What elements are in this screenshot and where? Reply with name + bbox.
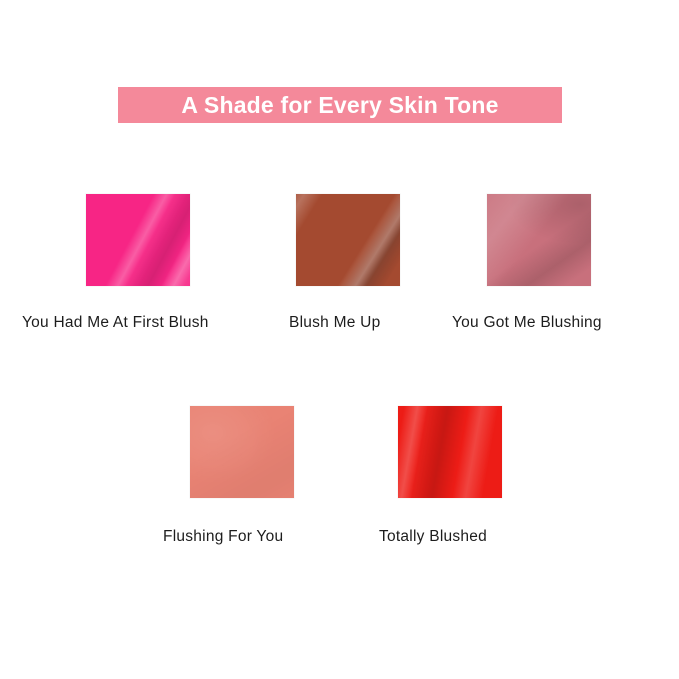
shade-label-1: You Had Me At First Blush bbox=[22, 315, 209, 331]
page-title: A Shade for Every Skin Tone bbox=[181, 94, 498, 117]
title-banner: A Shade for Every Skin Tone bbox=[118, 87, 562, 123]
shade-swatch-2[interactable] bbox=[296, 194, 400, 286]
swatch-color-block-3[interactable] bbox=[487, 194, 591, 286]
swatch-base-fill-3 bbox=[487, 194, 591, 286]
shade-label-5: Totally Blushed bbox=[379, 529, 487, 545]
shade-swatch-1[interactable] bbox=[86, 194, 190, 286]
shade-swatch-3[interactable] bbox=[487, 194, 591, 286]
shade-label-2: Blush Me Up bbox=[289, 315, 380, 331]
swatch-base-fill-5 bbox=[398, 406, 502, 498]
shade-swatch-4[interactable] bbox=[190, 406, 294, 498]
swatch-base-fill-1 bbox=[86, 194, 190, 286]
swatch-base-fill-4 bbox=[190, 406, 294, 498]
swatch-color-block-5[interactable] bbox=[398, 406, 502, 498]
swatch-color-block-1[interactable] bbox=[86, 194, 190, 286]
swatch-color-block-2[interactable] bbox=[296, 194, 400, 286]
shade-swatch-5[interactable] bbox=[398, 406, 502, 498]
shade-label-3: You Got Me Blushing bbox=[452, 315, 602, 331]
shade-chart-canvas: A Shade for Every Skin Tone You Had Me A… bbox=[0, 0, 679, 679]
shade-label-4: Flushing For You bbox=[163, 529, 283, 545]
swatch-base-fill-2 bbox=[296, 194, 400, 286]
swatch-color-block-4[interactable] bbox=[190, 406, 294, 498]
